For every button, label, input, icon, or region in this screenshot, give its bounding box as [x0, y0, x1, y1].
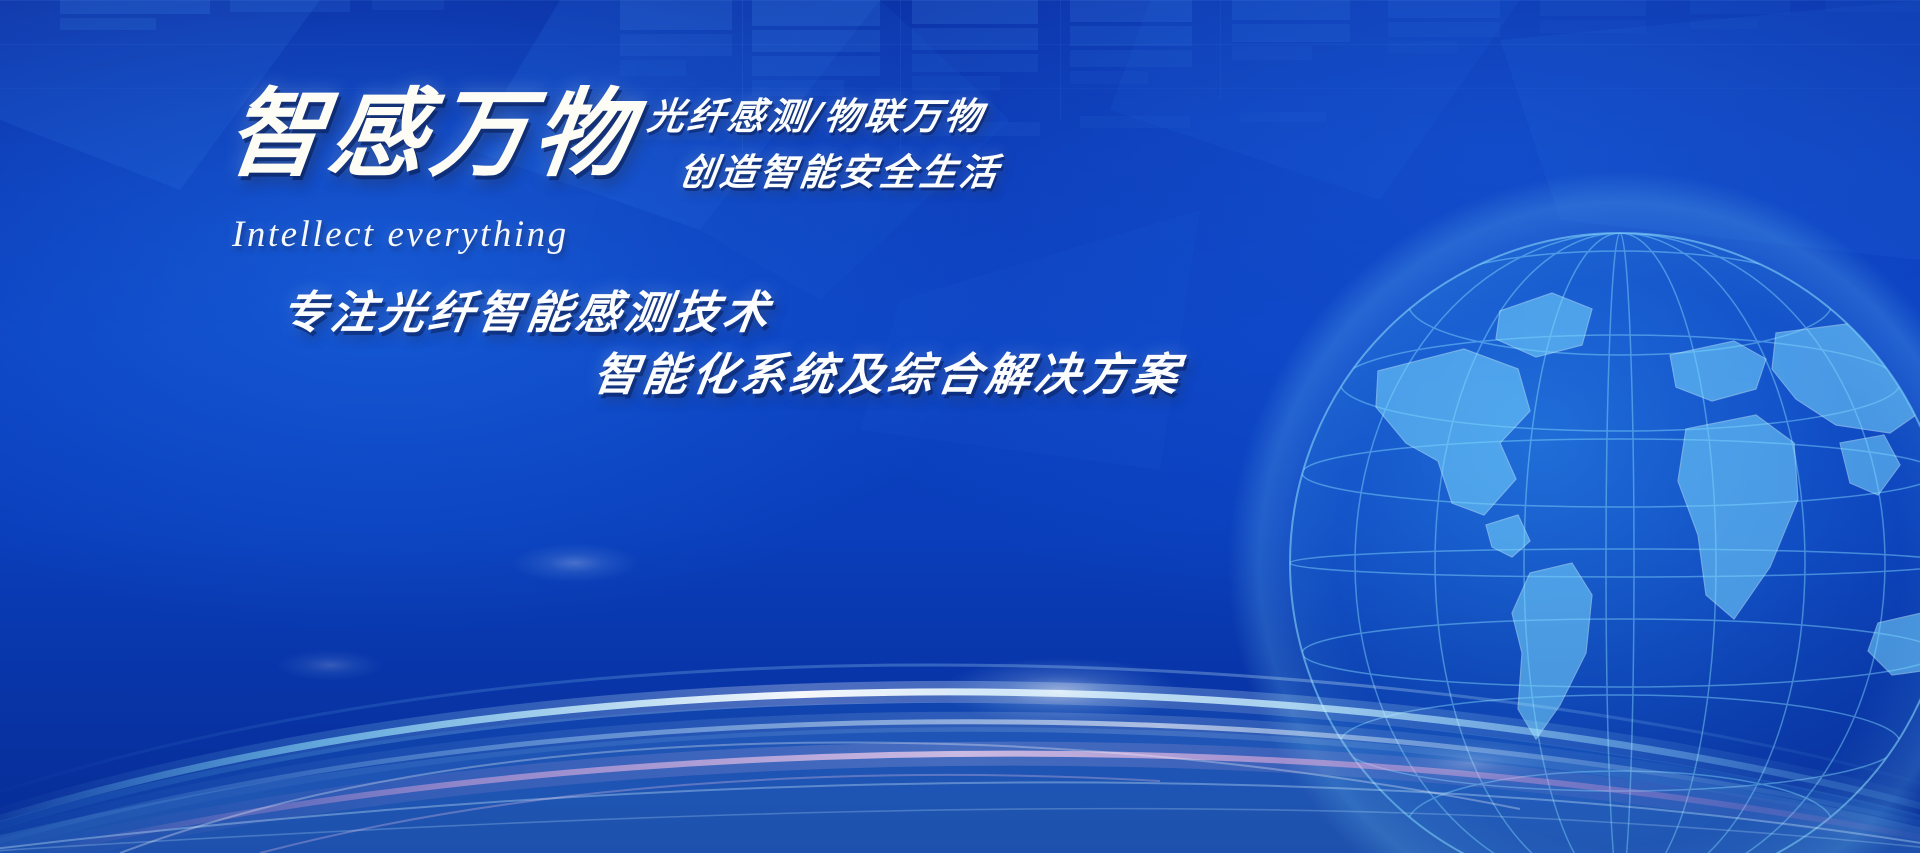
tagline-2: 创造智能安全生活: [676, 144, 1004, 200]
light-ribbon-swoosh: [0, 433, 1920, 853]
hero-banner: 智感万物 Intellect everything 光纤感测/物联万物 创造智能…: [0, 0, 1920, 853]
page-title: 智感万物: [222, 86, 642, 182]
page-subtitle-en: Intellect everything: [232, 216, 569, 253]
tagline-block: 光纤感测/物联万物 创造智能安全生活: [648, 88, 1000, 200]
focus-block: 专注光纤智能感测技术 智能化系统及综合解决方案: [282, 282, 1182, 406]
focus-line-1: 专注光纤智能感测技术: [278, 282, 1187, 344]
tagline-1: 光纤感测/物联万物: [644, 88, 1004, 144]
focus-line-2: 智能化系统及综合解决方案: [590, 344, 1187, 406]
